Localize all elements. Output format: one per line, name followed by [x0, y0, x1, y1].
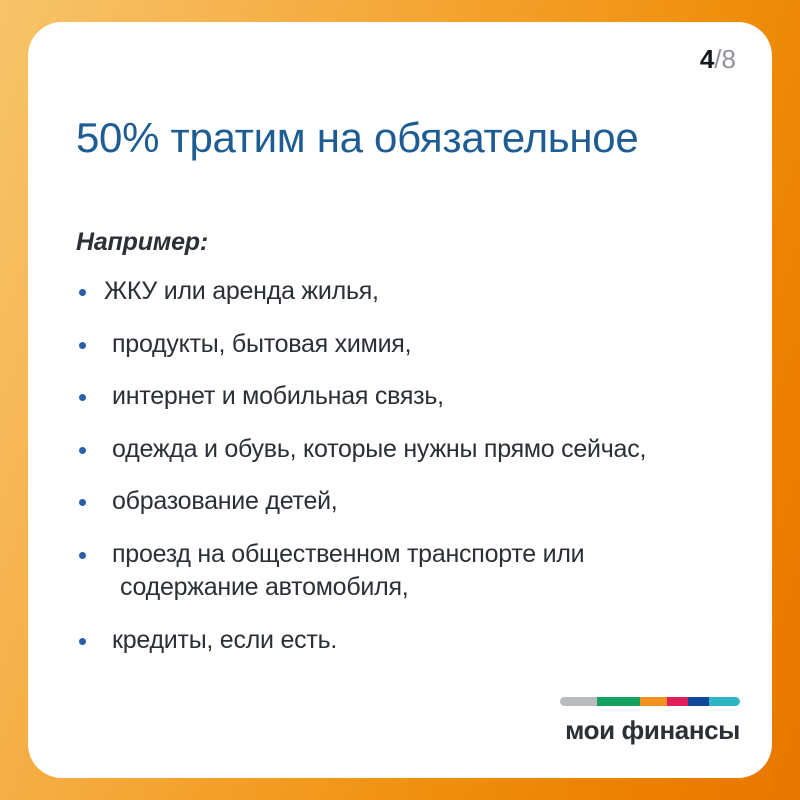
logo-color-bar — [560, 697, 740, 706]
list-item-text: ЖКУ или аренда жилья, — [104, 277, 379, 305]
bullet-dot-icon — [79, 447, 86, 454]
list-item: кредиты, если есть. — [76, 625, 756, 657]
page-title: 50% тратим на обязательное — [76, 114, 736, 162]
bullet-dot-icon — [79, 342, 86, 349]
list-item: продукты, бытовая химия, — [76, 329, 756, 361]
logo-wordmark: мои финансы — [552, 715, 740, 746]
list-item-text-line2: содержание автомобиля, — [112, 572, 756, 604]
page-counter: 4/8 — [700, 46, 736, 72]
page-counter-total: 8 — [722, 44, 736, 74]
list-item: интернет и мобильная связь, — [76, 381, 756, 413]
list-item: одежда и обувь, которые нужны прямо сейч… — [76, 434, 756, 466]
logo-bar-segment-blue — [688, 697, 709, 706]
list-item: проезд на общественном транспорте илисод… — [76, 539, 756, 604]
logo-bar-segment-green — [597, 697, 641, 706]
bullet-list: ЖКУ или аренда жилья,продукты, бытовая х… — [76, 276, 756, 656]
bullet-dot-icon — [79, 499, 86, 506]
list-item-text: кредиты, если есть. — [112, 626, 337, 654]
list-item: образование детей, — [76, 486, 756, 518]
bullet-dot-icon — [79, 552, 86, 559]
bullet-dot-icon — [79, 638, 86, 645]
body-content: Например: ЖКУ или аренда жилья,продукты,… — [76, 228, 756, 677]
logo-bar-segment-orange — [640, 697, 666, 706]
slide-card: 4/8 50% тратим на обязательное Например:… — [28, 22, 772, 778]
page-counter-current: 4 — [700, 44, 714, 74]
list-item-text: продукты, бытовая химия, — [112, 330, 411, 358]
list-item-text: одежда и обувь, которые нужны прямо сейч… — [112, 435, 646, 463]
bullet-dot-icon — [79, 394, 86, 401]
bullet-dot-icon — [79, 289, 86, 296]
page-counter-separator: / — [714, 44, 721, 74]
logo-bar-segment-gray — [560, 697, 597, 706]
list-item-text: интернет и мобильная связь, — [112, 382, 444, 410]
logo-bar-segment-cyan — [709, 697, 740, 706]
logo-bar-segment-magenta — [667, 697, 688, 706]
intro-label: Например: — [76, 228, 756, 257]
list-item: ЖКУ или аренда жилья, — [76, 276, 756, 308]
list-item-text: проезд на общественном транспорте или — [112, 540, 584, 568]
brand-logo: мои финансы — [552, 697, 740, 746]
list-item-text: образование детей, — [112, 487, 338, 515]
